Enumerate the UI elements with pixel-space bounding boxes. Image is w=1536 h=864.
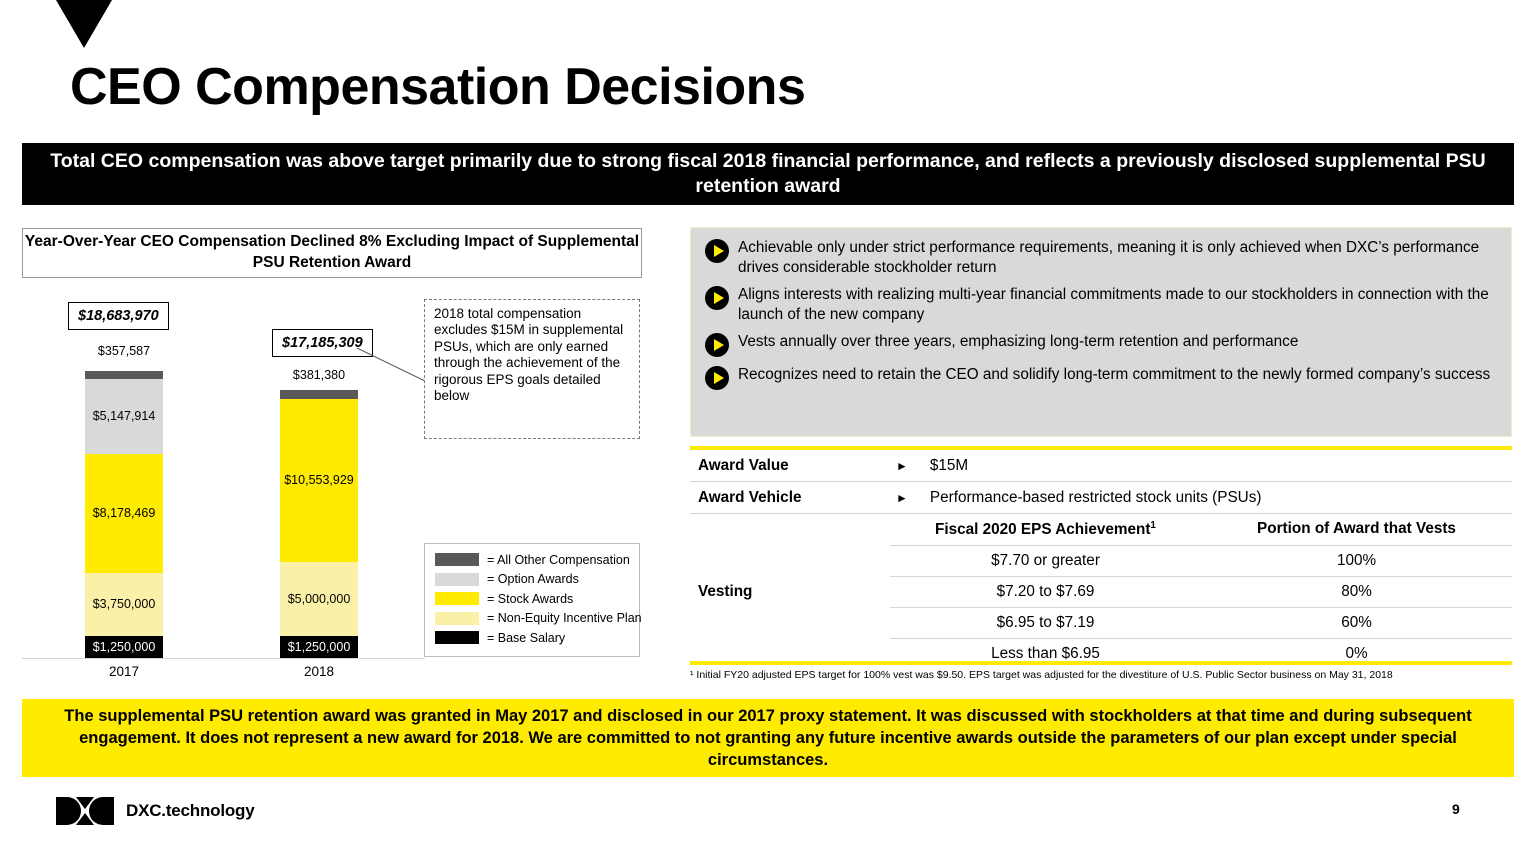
psu-highlights-panel: Achievable only under strict performance… (690, 227, 1512, 437)
award-vehicle-text: Performance-based restricted stock units… (930, 489, 1262, 507)
bullet-item: Recognizes need to retain the CEO and so… (705, 365, 1499, 390)
legend-item-stock-awards: = Stock Awards (435, 589, 631, 609)
bar-2017: $5,147,914 $8,178,469 $3,750,000 $1,250,… (85, 371, 163, 658)
page-number: 9 (1452, 801, 1460, 817)
legend-swatch-all-other-compensation (435, 553, 479, 566)
award-summary-table: Award Value ► $15M Award Vehicle ► Perfo… (690, 450, 1512, 669)
award-vehicle-cell: ► Performance-based restricted stock uni… (890, 489, 1512, 507)
bar-2018: $10,553,929 $5,000,000 $1,250,000 (280, 390, 358, 658)
category-label-2017: 2017 (64, 664, 184, 679)
callout-box: 2018 total compensation excludes $15M in… (424, 299, 640, 439)
legend-swatch-base-salary (435, 631, 479, 644)
callout-text: 2018 total compensation excludes $15M in… (434, 306, 623, 403)
vesting-block: Vesting Fiscal 2020 EPS Achievement1 Por… (690, 514, 1512, 669)
footer-logo: DXC.technology (56, 796, 255, 826)
category-label-2018: 2018 (259, 664, 379, 679)
vesting-header-row: Fiscal 2020 EPS Achievement1 Portion of … (890, 514, 1512, 546)
play-arrow-bullet-icon (705, 333, 729, 357)
bar-2018-stock-awards: $10,553,929 (280, 399, 358, 562)
bullet-text: Recognizes need to retain the CEO and so… (738, 365, 1490, 385)
bar-2017-all-other-compensation (85, 371, 163, 379)
legend-swatch-non-equity-incentive-plan (435, 612, 479, 625)
bar-2017-option-awards-value: $5,147,914 (93, 410, 156, 423)
legend-label-base-salary: = Base Salary (487, 631, 565, 645)
legend-label-non-equity-incentive-plan: = Non-Equity Incentive Plan (487, 611, 642, 625)
chart-legend: = All Other Compensation = Option Awards… (424, 543, 640, 657)
slide-root: CEO Compensation Decisions Total CEO com… (0, 0, 1536, 864)
bar-2017-stock-awards-value: $8,178,469 (93, 507, 156, 520)
vesting-eps-value: $7.20 to $7.69 (890, 577, 1201, 607)
total-box-2017: $18,683,970 (68, 302, 169, 330)
vesting-row: $7.70 or greater 100% (890, 546, 1512, 577)
vesting-portion-value: 100% (1201, 546, 1512, 576)
total-2018-text: $17,185,309 (282, 335, 363, 351)
vesting-portion-value: 80% (1201, 577, 1512, 607)
legend-label-stock-awards: = Stock Awards (487, 592, 573, 606)
legend-swatch-stock-awards (435, 592, 479, 605)
total-2017-text: $18,683,970 (78, 308, 159, 324)
vesting-eps-value: $7.70 or greater (890, 546, 1201, 576)
play-arrow-bullet-icon (705, 239, 729, 263)
bar-2018-non-equity-incentive-plan: $5,000,000 (280, 562, 358, 636)
bar-2018-base-salary-value: $1,250,000 (288, 641, 351, 654)
top-label-2017: $357,587 (44, 344, 204, 358)
bar-2018-base-salary: $1,250,000 (280, 636, 358, 658)
legend-item-option-awards: = Option Awards (435, 570, 631, 590)
triangle-right-icon: ► (896, 459, 908, 473)
compensation-bar-chart: $18,683,970 $17,185,309 $357,587 $381,38… (0, 0, 660, 700)
summary-banner: The supplemental PSU retention award was… (22, 699, 1514, 777)
footnote-marker: 1 (1150, 520, 1156, 531)
bar-2017-base-salary-value: $1,250,000 (93, 641, 156, 654)
legend-label-all-other-compensation: = All Other Compensation (487, 553, 630, 567)
bullet-text: Achievable only under strict performance… (738, 238, 1499, 277)
legend-item-base-salary: = Base Salary (435, 628, 631, 648)
vesting-row: $7.20 to $7.69 80% (890, 577, 1512, 608)
vesting-schedule-table: Fiscal 2020 EPS Achievement1 Portion of … (890, 514, 1512, 669)
award-value-cell: ► $15M (890, 457, 1512, 475)
footnote-text: ¹ Initial FY20 adjusted EPS target for 1… (690, 669, 1520, 683)
triangle-right-icon: ► (896, 491, 908, 505)
play-arrow-bullet-icon (705, 286, 729, 310)
vesting-label: Vesting (690, 514, 890, 669)
bullet-text: Aligns interests with realizing multi-ye… (738, 285, 1499, 324)
summary-banner-text: The supplemental PSU retention award was… (38, 705, 1498, 772)
bullet-item: Vests annually over three years, emphasi… (705, 332, 1499, 357)
bullet-text: Vests annually over three years, emphasi… (738, 332, 1298, 352)
callout-leader-line (355, 330, 435, 390)
vesting-eps-value: $6.95 to $7.19 (890, 608, 1201, 638)
award-vehicle-label: Award Vehicle (690, 489, 890, 507)
vesting-header-eps: Fiscal 2020 EPS Achievement1 (890, 514, 1201, 545)
bar-2017-non-equity-incentive-plan: $3,750,000 (85, 573, 163, 636)
vesting-portion-value: 60% (1201, 608, 1512, 638)
legend-label-option-awards: = Option Awards (487, 572, 579, 586)
bar-2017-stock-awards: $8,178,469 (85, 454, 163, 573)
bar-2018-non-equity-value: $5,000,000 (288, 593, 351, 606)
bullet-item: Achievable only under strict performance… (705, 238, 1499, 277)
vesting-header-portion: Portion of Award that Vests (1201, 514, 1512, 545)
bar-2017-base-salary: $1,250,000 (85, 636, 163, 658)
legend-item-all-other-compensation: = All Other Compensation (435, 550, 631, 570)
vesting-header-eps-text: Fiscal 2020 EPS Achievement (935, 521, 1150, 538)
award-vehicle-row: Award Vehicle ► Performance-based restri… (690, 482, 1512, 514)
chart-baseline (22, 658, 425, 659)
award-value-label: Award Value (690, 457, 890, 475)
bullet-item: Aligns interests with realizing multi-ye… (705, 285, 1499, 324)
vesting-row: $6.95 to $7.19 60% (890, 608, 1512, 639)
legend-item-non-equity-incentive-plan: = Non-Equity Incentive Plan (435, 609, 631, 629)
divider-yellow-bottom (690, 661, 1512, 665)
award-value-text: $15M (930, 457, 968, 475)
play-arrow-bullet-icon (705, 366, 729, 390)
dxc-logo-icon (56, 796, 114, 826)
bar-2018-all-other-compensation (280, 390, 358, 399)
logo-text: DXC.technology (126, 801, 255, 821)
award-value-row: Award Value ► $15M (690, 450, 1512, 482)
bar-2018-stock-awards-value: $10,553,929 (284, 474, 354, 487)
bar-2017-option-awards: $5,147,914 (85, 379, 163, 454)
bar-2017-non-equity-value: $3,750,000 (93, 598, 156, 611)
legend-swatch-option-awards (435, 573, 479, 586)
